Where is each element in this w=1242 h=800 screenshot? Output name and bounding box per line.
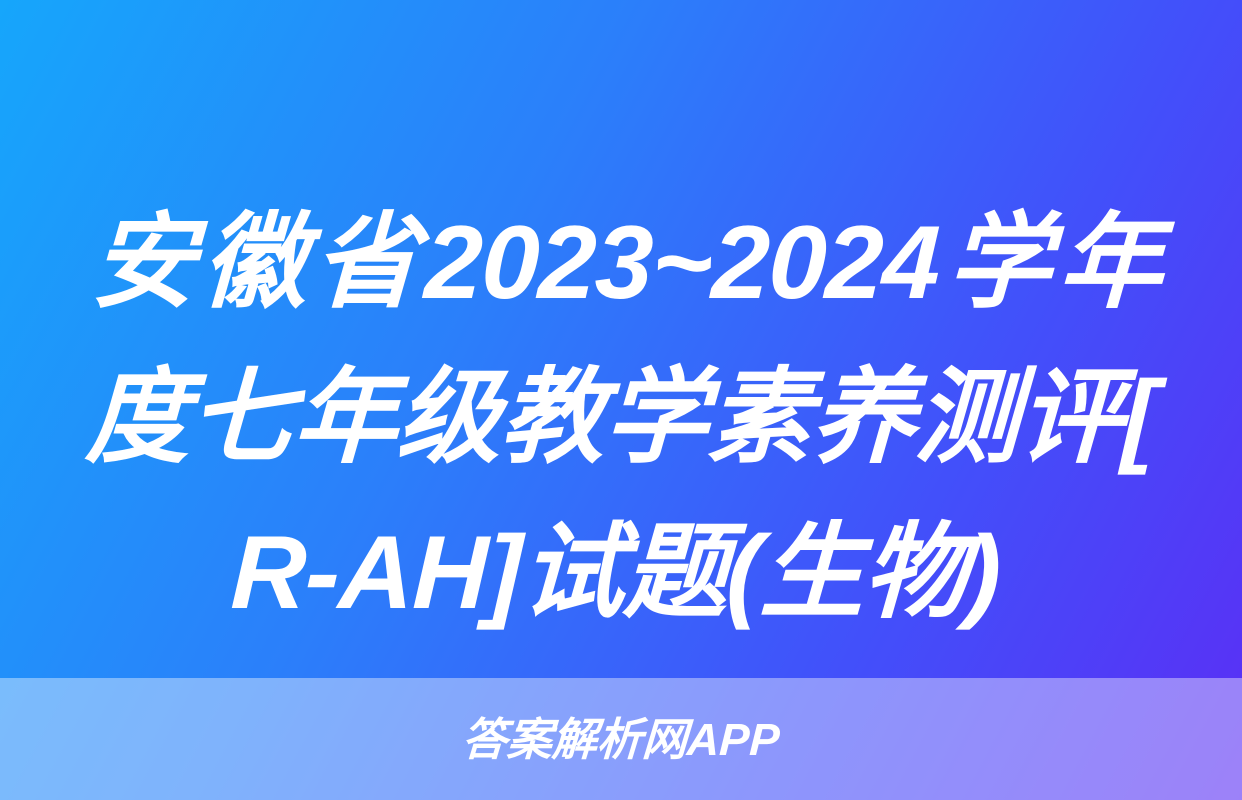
footer-watermark-band: 答案解析网APP (0, 678, 1242, 800)
title-line-2: 度七年级教学素养测评[ (83, 341, 1158, 496)
title-line-1: 安徽省2023~2024学年 (89, 186, 1164, 341)
title-line-3: R-AH]试题(生物) (78, 496, 1153, 651)
poster-title: 安徽省2023~2024学年 度七年级教学素养测评[ R-AH]试题(生物) (78, 186, 1164, 651)
footer-watermark-label: 答案解析网APP (461, 717, 781, 762)
poster-canvas: 安徽省2023~2024学年 度七年级教学素养测评[ R-AH]试题(生物) 答… (0, 0, 1242, 800)
